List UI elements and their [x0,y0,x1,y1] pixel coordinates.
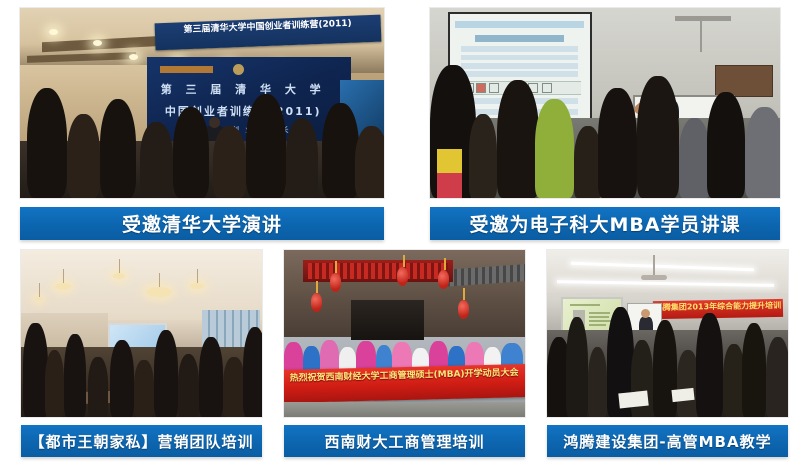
photo-gallery: 第三届清华大学中国创业者训练营(2011) 第 三 届 清 华 大 学 中国创业… [0,0,800,467]
caption-text: 受邀清华大学演讲 [122,210,282,237]
caption-furniture[interactable]: 【都市王朝家私】营销团队培训 [21,425,262,457]
hongteng-red-banner: 鸿腾集团2013年综合能力提升培训 [653,299,783,320]
caption-text: 西南财大工商管理培训 [324,431,484,452]
swufe-red-banner: 热烈祝贺西南财经大学工商管理硕士(MBA)开学动员大会 [284,364,525,404]
hongteng-red-banner-text: 鸿腾集团2013年综合能力提升培训 [653,299,783,312]
caption-swufe[interactable]: 西南财大工商管理培训 [284,425,525,457]
gallery-card-tsinghua[interactable]: 第三届清华大学中国创业者训练营(2011) 第 三 届 清 华 大 学 中国创业… [20,8,384,240]
furniture-sales-training-photo[interactable] [21,250,262,417]
caption-hongteng[interactable]: 鸿腾建设集团-高管MBA教学 [547,425,788,457]
caption-tsinghua[interactable]: 受邀清华大学演讲 [20,207,384,240]
tsinghua-lecture-photo[interactable]: 第三届清华大学中国创业者训练营(2011) 第 三 届 清 华 大 学 中国创业… [20,8,384,198]
stage-banner-line1: 第 三 届 清 华 大 学 [158,81,329,97]
caption-uestc[interactable]: 受邀为电子科大MBA学员讲课 [430,207,780,240]
hongteng-executive-mba-photo[interactable]: 鸿腾集团2013年综合能力提升培训 [547,250,788,417]
caption-text: 受邀为电子科大MBA学员讲课 [469,210,740,237]
gallery-card-uestc[interactable]: 受邀为电子科大MBA学员讲课 [430,8,780,240]
gallery-card-hongteng[interactable]: 鸿腾集团2013年综合能力提升培训 鸿腾建设集团 [547,250,788,457]
gallery-card-swufe[interactable]: 热烈祝贺西南财经大学工商管理硕士(MBA)开学动员大会 西南财大工商管理培训 [284,250,525,457]
caption-text: 【都市王朝家私】营销团队培训 [29,431,253,452]
gallery-card-furniture[interactable]: 【都市王朝家私】营销团队培训 [21,250,262,457]
swufe-mba-training-photo[interactable]: 热烈祝贺西南财经大学工商管理硕士(MBA)开学动员大会 [284,250,525,417]
caption-text: 鸿腾建设集团-高管MBA教学 [563,431,771,452]
uestc-mba-class-photo[interactable] [430,8,780,198]
